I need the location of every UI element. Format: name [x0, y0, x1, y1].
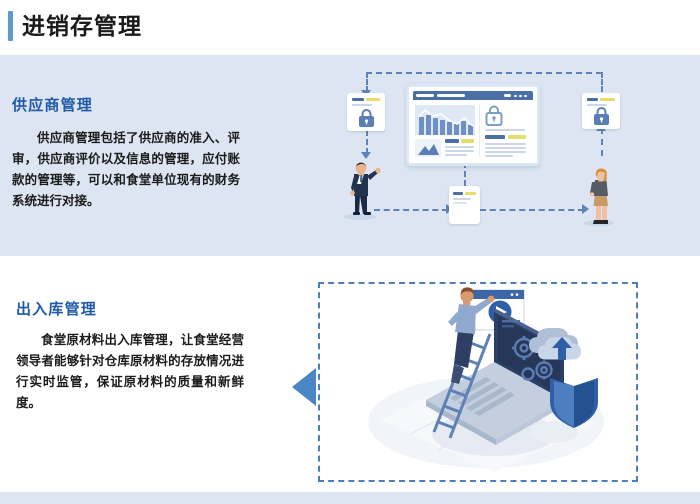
doc-line	[465, 192, 476, 195]
businessman-figure	[338, 158, 386, 218]
connector-top-left	[366, 72, 368, 92]
inventory-isometric-illustration	[282, 272, 662, 496]
lock-icon	[593, 107, 610, 126]
connector-bottom-right	[480, 209, 584, 211]
inventory-section-body: 食堂原材料出入库管理，让食堂经营领导者能够针对仓库原材料的存放情况进行实时监管，…	[16, 330, 244, 414]
lock-icon	[485, 105, 503, 126]
trend-line	[415, 105, 475, 135]
toolbar-pill	[437, 94, 465, 97]
toolbar-dot	[514, 95, 517, 98]
supplier-section-heading: 供应商管理	[12, 94, 93, 115]
toolbar-dot	[519, 95, 522, 98]
page-root: 进销存管理 供应商管理 供应商管理包括了供应商的准入、评审，供应商评价以及信息的…	[0, 0, 700, 504]
inventory-section-heading: 出入库管理	[16, 298, 97, 319]
doc-line	[352, 104, 372, 106]
document-card-right	[582, 93, 620, 129]
doc-line	[366, 98, 380, 101]
lock-icon	[358, 109, 375, 128]
thumbnail-card	[415, 139, 441, 157]
bar-chart	[415, 105, 475, 135]
connector-top	[366, 72, 602, 74]
isometric-scene	[318, 282, 634, 478]
connector-right-doc-woman	[601, 128, 603, 156]
toolbar-pill	[416, 94, 434, 97]
panel-divider	[479, 105, 480, 157]
connector-top-right	[601, 72, 603, 92]
connector-left-doc-man	[366, 130, 368, 154]
doc-line	[587, 98, 598, 101]
doc-line	[352, 98, 364, 101]
dashboard-screen	[406, 84, 540, 166]
document-card-bottom	[449, 186, 480, 224]
title-accent-bar	[8, 11, 13, 41]
page-title: 进销存管理	[22, 10, 142, 42]
page-header: 进销存管理	[0, 0, 700, 55]
left-triangle-pointer	[292, 368, 316, 406]
doc-line	[453, 198, 471, 200]
supplier-section-body: 供应商管理包括了供应商的准入、评审，供应商评价以及信息的管理，应付账款的管理等，…	[12, 128, 240, 212]
doc-line	[600, 98, 615, 101]
document-card-left	[347, 93, 385, 131]
doc-line	[587, 104, 607, 106]
businesswoman-figure	[580, 166, 622, 226]
supplier-flow-illustration	[318, 66, 618, 241]
toolbar-dot	[524, 95, 527, 98]
doc-line	[453, 202, 467, 204]
toolbar-pill	[504, 94, 511, 97]
doc-line	[453, 192, 463, 195]
